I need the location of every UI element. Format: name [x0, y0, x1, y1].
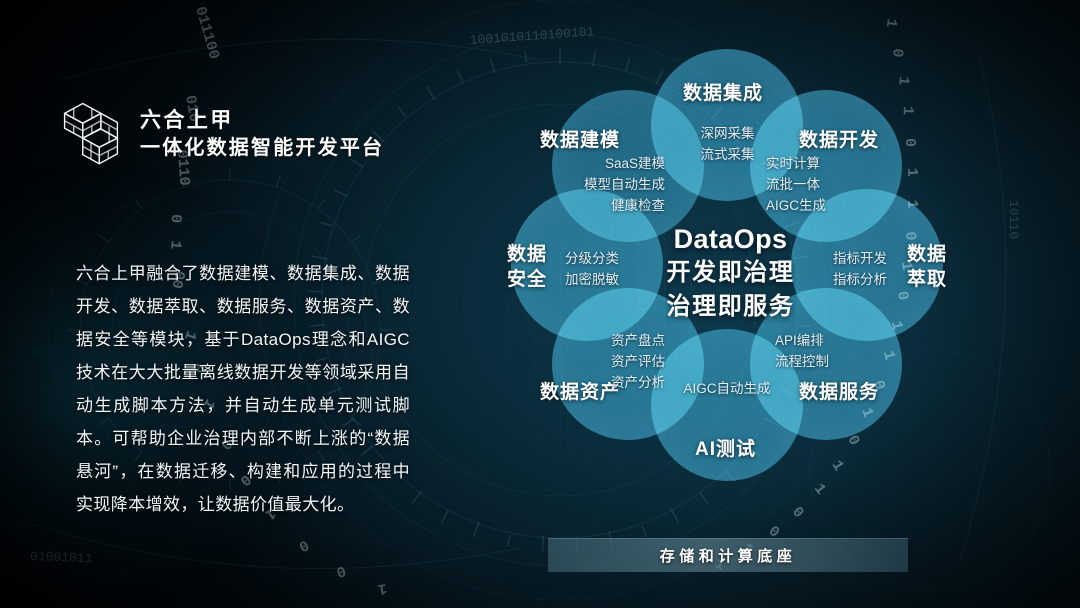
subitem: 资产评估 [550, 351, 665, 372]
node-label-data-extraction: 数据 萃取 [899, 242, 955, 292]
node-label-data-modeling: 数据建模 [540, 125, 620, 152]
subitem: 深网采集 [655, 123, 800, 144]
node-label-data-security: 数据 安全 [499, 242, 555, 292]
node-label-line: 安全 [499, 267, 555, 292]
brand-lockup: 六合上甲 一体化数据智能开发平台 [58, 95, 384, 173]
diagram-core-text: DataOps 开发即治理 治理即服务 [623, 222, 838, 324]
core-line-2: 治理即服务 [623, 290, 838, 324]
node-subitems-data-modeling: SaaS建模 模型自动生成 健康检查 [525, 153, 665, 216]
brand-name: 六合上甲 [140, 109, 384, 132]
subitem: 资产分析 [550, 372, 665, 393]
subitem: API编排 [775, 330, 895, 351]
node-subitems-data-assets: 资产盘点 资产评估 资产分析 [550, 330, 665, 393]
dataops-venn-diagram: 数据集成 深网采集 流式采集 数据建模 SaaS建模 模型自动生成 健康检查 数… [455, 30, 995, 510]
core-title: DataOps [623, 222, 838, 256]
base-layer-bar[interactable]: 存储和计算底座 [548, 538, 908, 572]
platform-description: 六合上甲融合了数据建模、数据集成、数据开发、数据萃取、数据服务、数据资产、数据安… [76, 257, 410, 521]
node-subitems-ai-testing: AIGC自动生成 [653, 378, 801, 399]
subitem: 模型自动生成 [525, 174, 665, 195]
subitem: 资产盘点 [550, 330, 665, 351]
node-label-data-service: 数据服务 [799, 377, 879, 404]
node-label-line: 数据 [499, 242, 555, 267]
subitem: SaaS建模 [525, 153, 665, 174]
subitem: 健康检查 [525, 195, 665, 216]
node-subitems-data-service: API编排 流程控制 [775, 330, 895, 372]
subitem: AIGC生成 [766, 195, 906, 216]
slide-canvas: 011100 010 0110 0 1 00 1 0 1 0 0 1 0 0 1… [0, 0, 1080, 608]
node-label-line: 萃取 [899, 267, 955, 292]
core-line-1: 开发即治理 [623, 256, 838, 290]
base-layer-label: 存储和计算底座 [660, 545, 797, 566]
node-label-data-integration: 数据集成 [683, 78, 763, 105]
node-label-ai-testing: AI测试 [695, 434, 756, 461]
brick-wall-logo-icon [58, 95, 124, 173]
node-label-line: 数据 [899, 242, 955, 267]
diagram-labels: 数据集成 深网采集 流式采集 数据建模 SaaS建模 模型自动生成 健康检查 数… [455, 30, 995, 510]
subitem: AIGC自动生成 [653, 378, 801, 399]
subitem: 流批一体 [766, 174, 906, 195]
subitem: 流程控制 [775, 351, 895, 372]
brand-subtitle: 一体化数据智能开发平台 [140, 137, 384, 159]
node-label-data-development: 数据开发 [799, 125, 879, 152]
brand-text-block: 六合上甲 一体化数据智能开发平台 [140, 109, 384, 159]
subitem: 实时计算 [766, 153, 906, 174]
node-subitems-data-development: 实时计算 流批一体 AIGC生成 [766, 153, 906, 216]
